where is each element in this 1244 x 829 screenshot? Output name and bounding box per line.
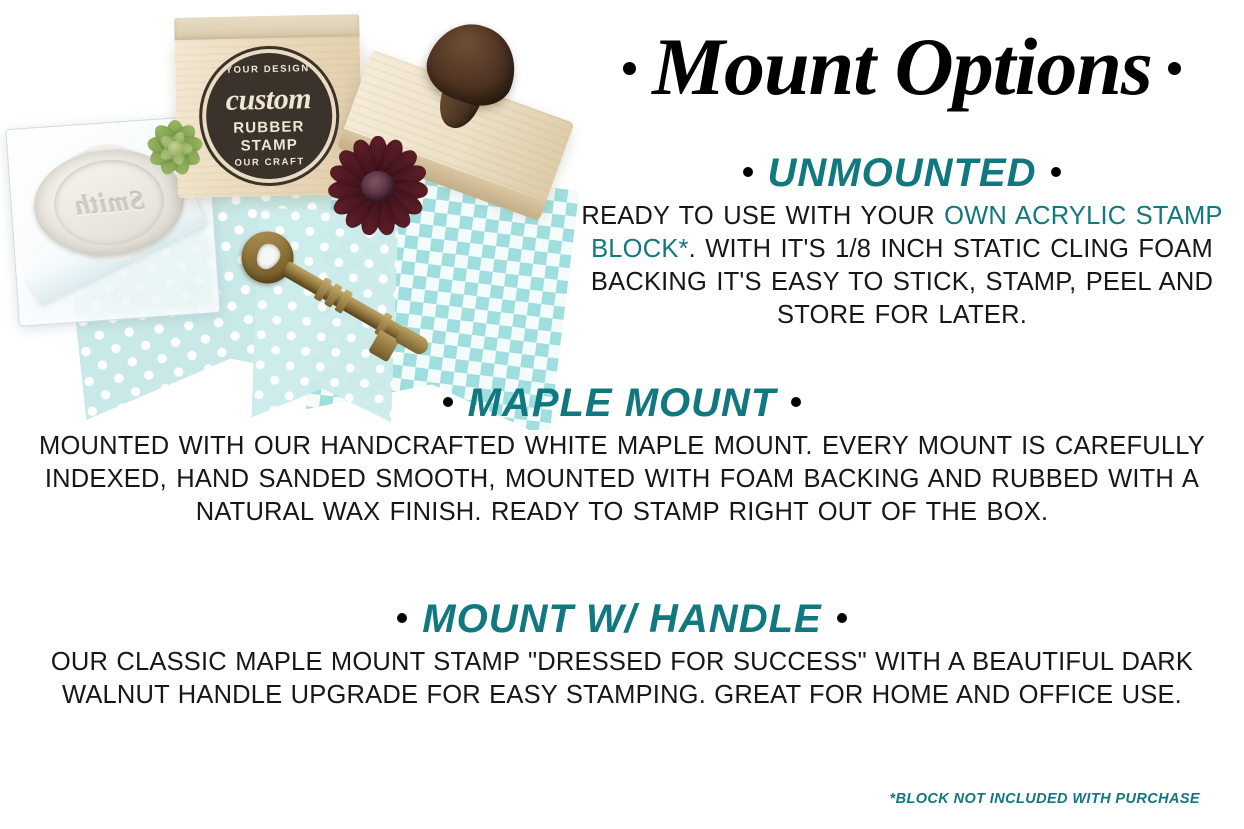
heading-bullet-left xyxy=(743,167,753,177)
page-title: Mount Options xyxy=(560,26,1244,108)
title-bullet-left xyxy=(623,62,636,75)
section-body-unmounted: READY TO USE WITH YOUR OWN ACRYLIC STAMP… xyxy=(560,200,1244,333)
page-title-wrapper: Mount Options xyxy=(560,26,1244,108)
heading-bullet-right xyxy=(837,613,847,623)
logo-arc-bottom-text: OUR CRAFT xyxy=(207,156,333,170)
heading-bullet-left xyxy=(443,397,453,407)
section-heading-maple-mount: MAPLE MOUNT xyxy=(24,382,1220,424)
product-photo-collage: Smith YOUR DESIGN custom RUBBER STAMP OU… xyxy=(0,0,600,430)
custom-rubber-stamp-logo: YOUR DESIGN custom RUBBER STAMP OUR CRAF… xyxy=(204,52,333,181)
section-heading-unmounted: UNMOUNTED xyxy=(560,152,1244,194)
heading-text: UNMOUNTED xyxy=(768,151,1037,195)
section-unmounted: UNMOUNTED READY TO USE WITH YOUR OWN ACR… xyxy=(560,152,1244,333)
burgundy-flower xyxy=(318,128,438,244)
heading-text: MOUNT W/ HANDLE xyxy=(422,597,821,641)
footnote-disclaimer: *BLOCK NOT INCLUDED WITH PURCHASE xyxy=(890,791,1200,807)
succulent-plant xyxy=(138,112,212,184)
logo-arc-top-text: YOUR DESIGN xyxy=(205,63,331,77)
page-title-text: Mount Options xyxy=(652,21,1152,112)
key-bow-hole xyxy=(252,240,284,274)
logo-script-text: custom xyxy=(205,82,332,119)
logo-line-one-text: RUBBER xyxy=(206,118,332,138)
heading-bullet-right xyxy=(791,397,801,407)
section-maple-mount: MAPLE MOUNT MOUNTED WITH OUR HANDCRAFTED… xyxy=(24,382,1220,529)
heading-bullet-left xyxy=(397,613,407,623)
section-heading-mount-with-handle: MOUNT W/ HANDLE xyxy=(24,598,1220,640)
body-prefix: READY TO USE WITH YOUR xyxy=(581,202,944,230)
heading-text: MAPLE MOUNT xyxy=(468,381,777,425)
heading-bullet-right xyxy=(1051,167,1061,177)
section-mount-with-handle: MOUNT W/ HANDLE OUR CLASSIC MAPLE MOUNT … xyxy=(24,598,1220,712)
section-body-maple-mount: MOUNTED WITH OUR HANDCRAFTED WHITE MAPLE… xyxy=(24,430,1220,529)
mount-options-infographic: Smith YOUR DESIGN custom RUBBER STAMP OU… xyxy=(0,0,1244,829)
logo-line-two-text: STAMP xyxy=(206,136,332,156)
section-body-mount-with-handle: OUR CLASSIC MAPLE MOUNT STAMP "DRESSED F… xyxy=(24,646,1220,712)
title-bullet-right xyxy=(1168,62,1181,75)
